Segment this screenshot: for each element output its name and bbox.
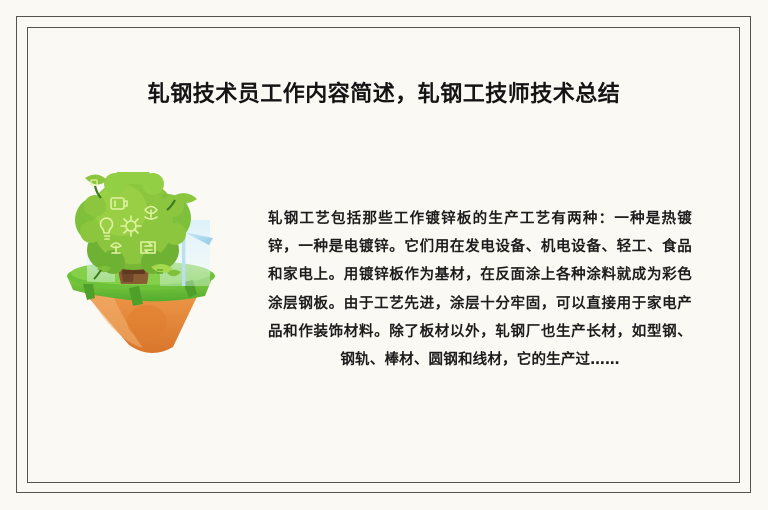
tree-canopy [75,172,191,274]
article-body-text: 轧钢工艺包括那些工作镀锌板的生产工艺有两种：一种是热镀锌，一种是电镀锌。它们用在… [268,205,692,374]
eco-tree-island-illustration [55,172,255,357]
page-title: 轧钢技术员工作内容简述，轧钢工技师技术总结 [40,80,728,110]
article-page: 轧钢技术员工作内容简述，轧钢工技师技术总结 [0,0,768,510]
